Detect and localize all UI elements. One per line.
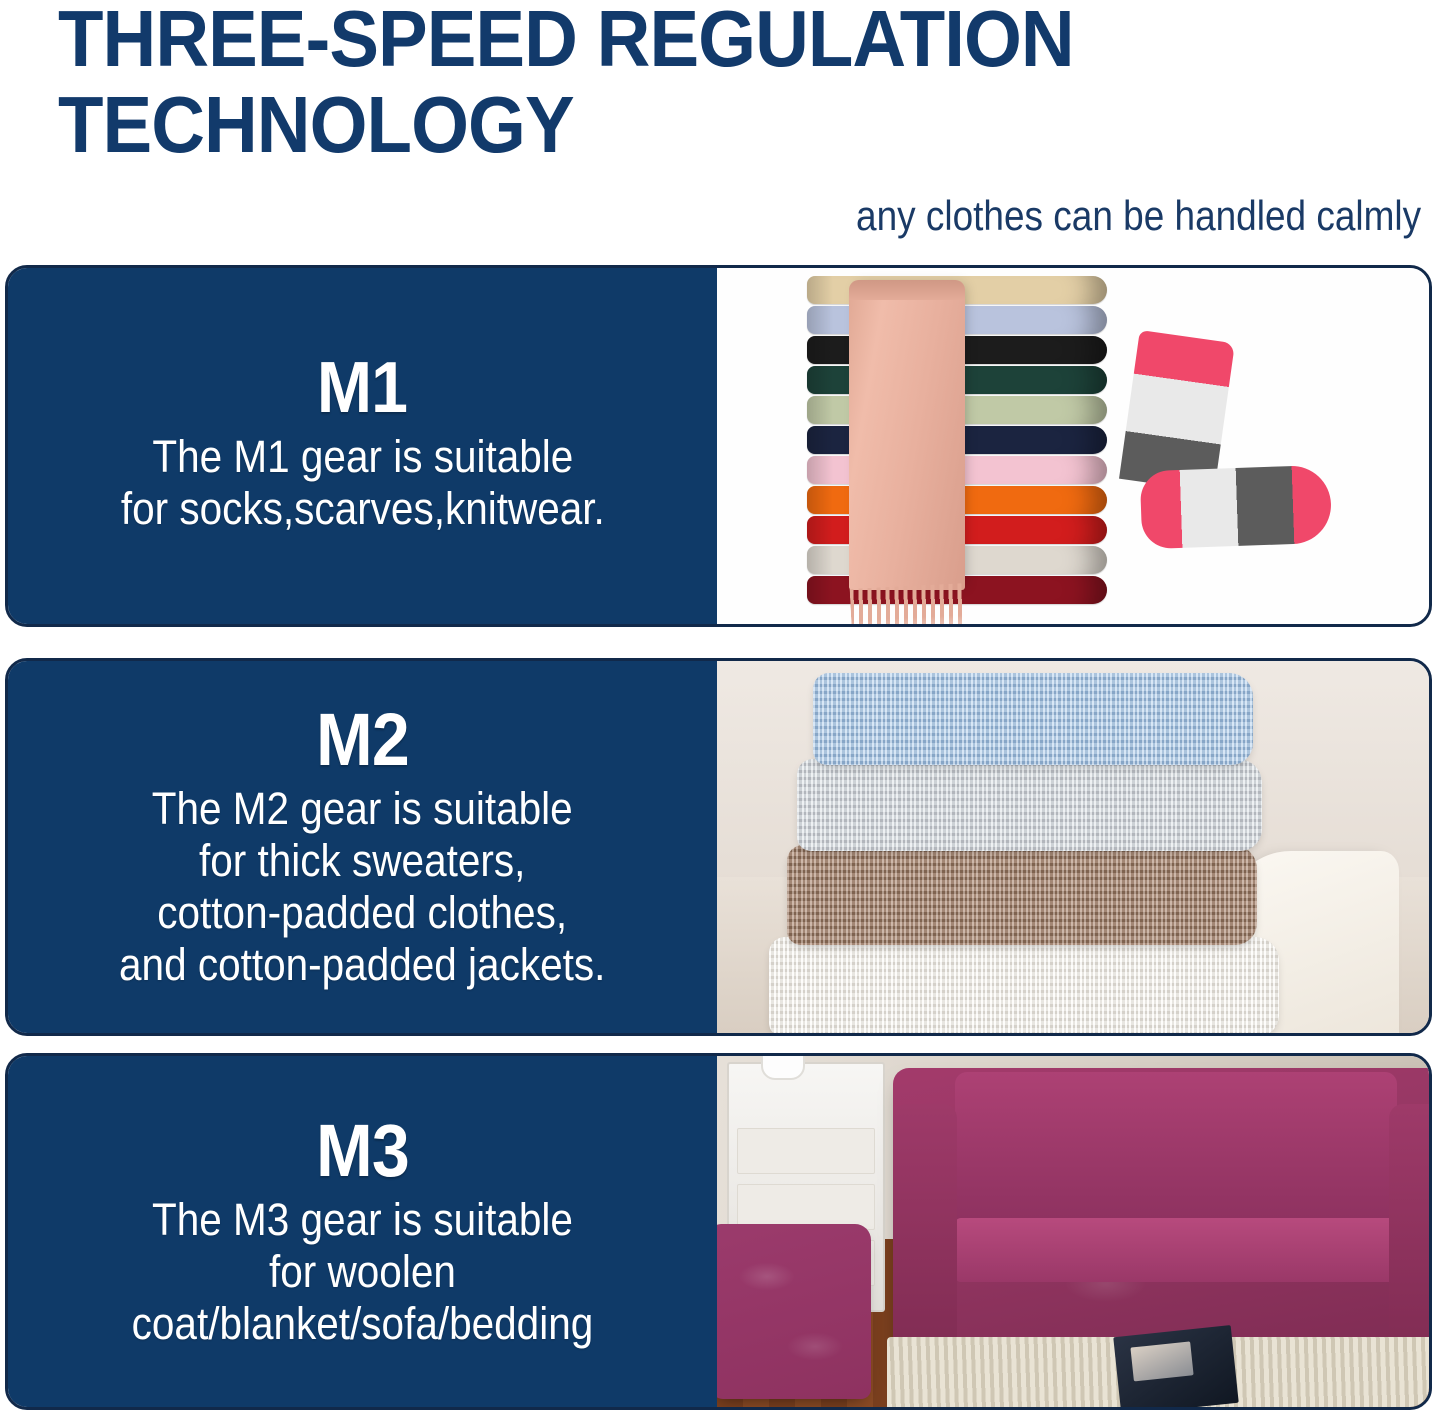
gear-photo-m2 (717, 661, 1429, 1033)
pink-scarf-illustration (849, 280, 965, 590)
page-title: THREE-SPEED REGULATION TECHNOLOGY (58, 0, 1304, 168)
knit-sweater-cream (769, 937, 1279, 1033)
gear-card-m3-text: M3 The M3 gear is suitable for woolen co… (8, 1056, 717, 1407)
knit-sweater-brown (787, 845, 1257, 945)
cup-icon (761, 1056, 805, 1080)
knit-sweater-blue (813, 673, 1253, 765)
gear-card-m3: M3 The M3 gear is suitable for woolen co… (5, 1053, 1432, 1410)
gear-card-m1: M1 The M1 gear is suitable for socks,sca… (5, 265, 1432, 627)
gear-label-m3: M3 (316, 1114, 409, 1188)
gear-photo-m1 (717, 268, 1429, 624)
gear-description-m3: The M3 gear is suitable for woolen coat/… (132, 1194, 594, 1350)
page-subtitle: any clothes can be handled calmly (856, 192, 1421, 240)
scarf-stack-illustration (807, 276, 1107, 606)
magenta-cushion (717, 1224, 871, 1399)
gear-card-m1-text: M1 The M1 gear is suitable for socks,sca… (8, 268, 717, 624)
header-block: THREE-SPEED REGULATION TECHNOLOGY any cl… (0, 0, 1437, 258)
magenta-sofa-cover (893, 1068, 1429, 1368)
gear-description-m1: The M1 gear is suitable for socks,scarve… (121, 431, 605, 535)
magazine (1113, 1325, 1239, 1407)
gear-photo-m3 (717, 1056, 1429, 1407)
gear-label-m2: M2 (316, 703, 409, 777)
gear-card-m2: M2 The M2 gear is suitable for thick swe… (5, 658, 1432, 1036)
striped-sock-illustration (1111, 336, 1341, 566)
gear-label-m1: M1 (317, 351, 407, 425)
knit-sweater-grey (797, 759, 1262, 851)
scarf-fringe (850, 583, 965, 624)
gear-description-m2: The M2 gear is suitable for thick sweate… (119, 783, 605, 991)
gear-card-m2-text: M2 The M2 gear is suitable for thick swe… (8, 661, 717, 1033)
